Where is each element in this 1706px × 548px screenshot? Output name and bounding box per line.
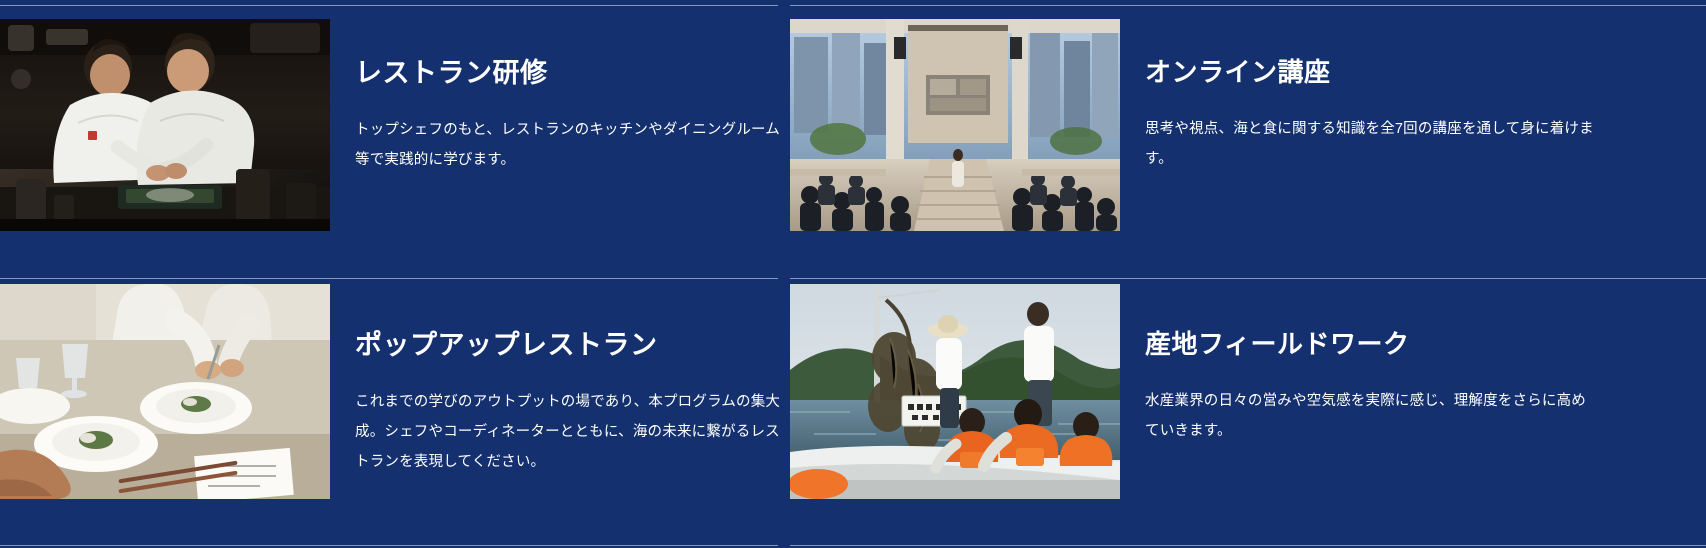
card-body-online-course: オンライン講座 思考や視点、海と食に関する知識を全7回の講座を通して身に着けます… [1120,19,1706,174]
card-online-course[interactable]: オンライン講座 思考や視点、海と食に関する知識を全7回の講座を通して身に着けます… [790,19,1706,231]
card-production-area-fieldwork[interactable]: 産地フィールドワーク 水産業界の日々の営みや空気感を実際に感じ、理解度をさらに高… [790,284,1706,499]
card-cell-production-area-fieldwork: 産地フィールドワーク 水産業界の日々の営みや空気感を実際に感じ、理解度をさらに高… [783,273,1706,548]
card-body-production-area-fieldwork: 産地フィールドワーク 水産業界の日々の営みや空気感を実際に感じ、理解度をさらに高… [1120,284,1706,446]
card-cell-popup-restaurant: ポップアップレストラン これまでの学びのアウトプットの場であり、本プログラムの集… [0,273,783,548]
card-title: レストラン研修 [355,57,783,89]
card-image-popup-restaurant [0,284,330,499]
card-body-popup-restaurant: ポップアップレストラン これまでの学びのアウトプットの場であり、本プログラムの集… [330,284,783,477]
card-title: 産地フィールドワーク [1145,329,1706,360]
card-cell-online-course: オンライン講座 思考や視点、海と食に関する知識を全7回の講座を通して身に着けます… [783,0,1706,273]
card-popup-restaurant[interactable]: ポップアップレストラン これまでの学びのアウトプットの場であり、本プログラムの集… [0,284,783,499]
card-grid: レストラン研修 トップシェフのもと、レストランのキッチンやダイニングルーム等で実… [0,0,1706,548]
card-title: ポップアップレストラン [355,329,783,361]
card-description: 思考や視点、海と食に関する知識を全7回の講座を通して身に着けます。 [1145,114,1597,174]
card-description: 水産業界の日々の営みや空気感を実際に感じ、理解度をさらに高めていきます。 [1145,386,1597,446]
card-description: これまでの学びのアウトプットの場であり、本プログラムの集大成。シェフやコーディネ… [355,387,783,477]
card-image-restaurant-training [0,19,330,231]
card-image-online-course [790,19,1120,231]
card-image-production-area-fieldwork [790,284,1120,499]
card-restaurant-training[interactable]: レストラン研修 トップシェフのもと、レストランのキッチンやダイニングルーム等で実… [0,19,783,231]
program-cards-section: レストラン研修 トップシェフのもと、レストランのキッチンやダイニングルーム等で実… [0,0,1706,548]
card-cell-restaurant-training: レストラン研修 トップシェフのもと、レストランのキッチンやダイニングルーム等で実… [0,0,783,273]
card-description: トップシェフのもと、レストランのキッチンやダイニングルーム等で実践的に学びます。 [355,115,783,175]
card-body-restaurant-training: レストラン研修 トップシェフのもと、レストランのキッチンやダイニングルーム等で実… [330,19,783,175]
card-title: オンライン講座 [1145,57,1706,88]
